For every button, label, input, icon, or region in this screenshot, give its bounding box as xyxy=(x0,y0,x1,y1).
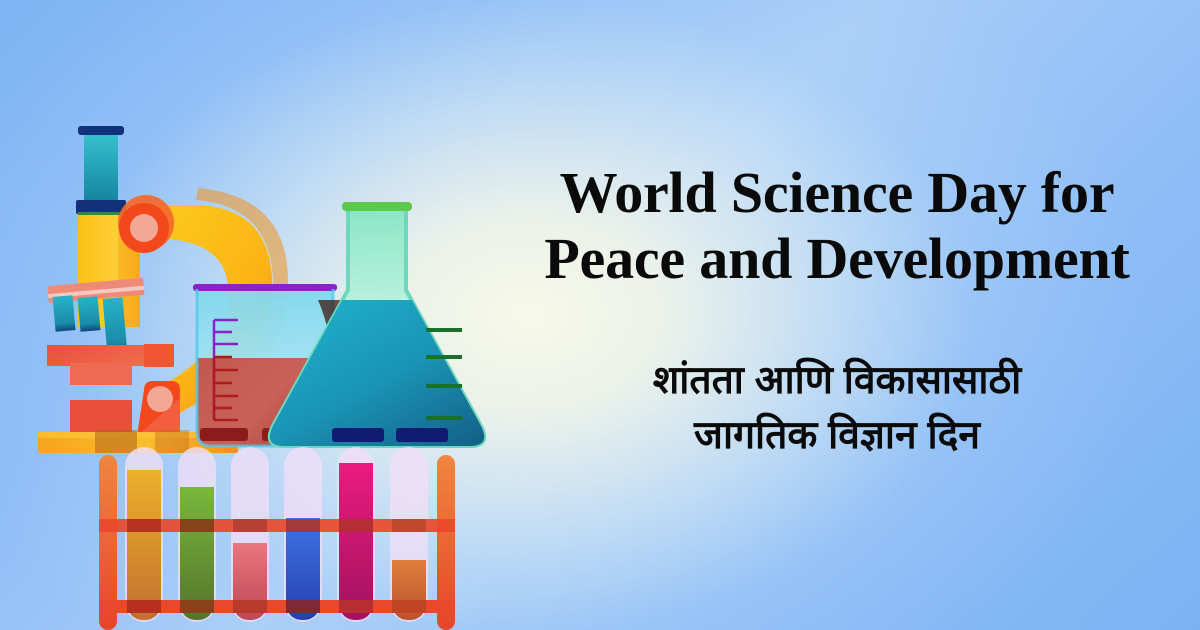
title-line-1: World Science Day for xyxy=(560,160,1115,225)
test-tube-rack-icon xyxy=(99,447,455,630)
subtitle-line-2: जागतिक विज्ञान दिन xyxy=(694,414,980,457)
subtitle-line-1: शांतता आणि विकासासाठी xyxy=(653,359,1022,402)
test-tube-1 xyxy=(127,470,161,620)
test-tube-5 xyxy=(339,463,373,620)
page-title: World Science Day for Peace and Developm… xyxy=(492,160,1182,291)
title-line-2: Peace and Development xyxy=(544,226,1129,291)
page-subtitle-marathi: शांतता आणि विकासासाठी जागतिक विज्ञान दिन xyxy=(492,353,1182,464)
rail-tube-overlap xyxy=(127,519,426,613)
poster-text-block: World Science Day for Peace and Developm… xyxy=(492,160,1182,464)
poster-canvas: World Science Day for Peace and Developm… xyxy=(0,0,1200,630)
test-tube-glass-columns xyxy=(125,447,428,622)
test-tube-list xyxy=(127,463,426,620)
